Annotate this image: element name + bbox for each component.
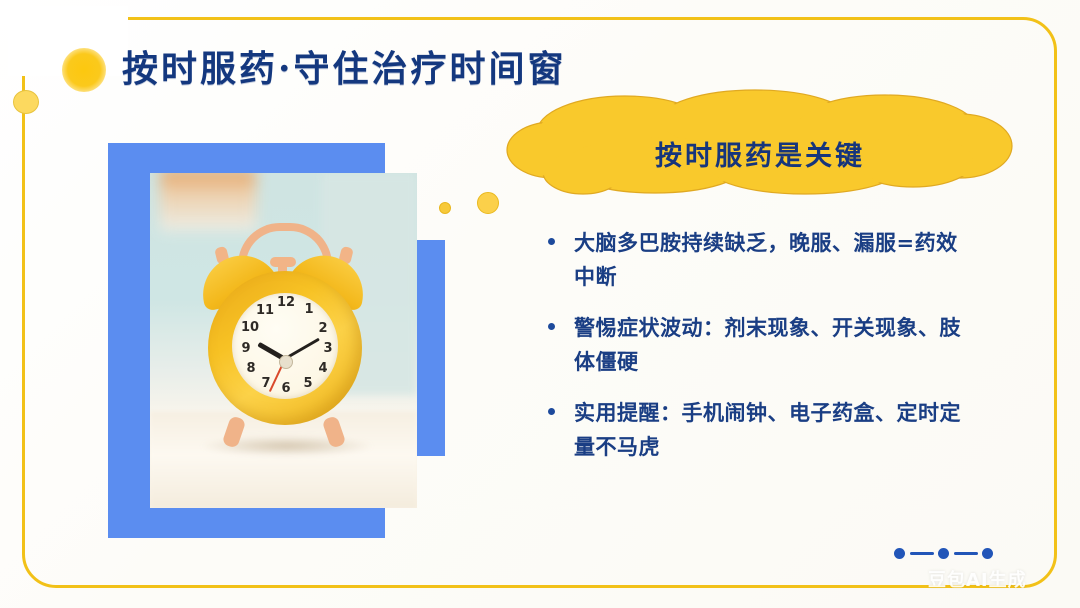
sun-icon	[62, 48, 106, 92]
clock-number: 12	[277, 295, 293, 311]
clock-number: 3	[320, 341, 336, 357]
deco-dot	[894, 548, 905, 559]
clock-number: 2	[315, 321, 331, 337]
clock-number: 9	[238, 341, 254, 357]
decorative-dot-large	[477, 192, 499, 214]
deco-dash	[910, 552, 934, 555]
clock-number: 1	[301, 302, 317, 318]
bullet-text: 实用提醒：手机闹钟、电子药盒、定时定量不马虎	[574, 396, 968, 464]
deco-dash	[954, 552, 978, 555]
clock-foot-right	[322, 415, 347, 449]
page-title: 按时服药·守住治疗时间窗	[122, 40, 567, 92]
bullet-list: 大脑多巴胺持续缺乏，晚服、漏服=药效中断 警惕症状波动：剂末现象、开关现象、肢体…	[548, 226, 968, 481]
clock-foot-left	[222, 415, 247, 449]
cloud-pebble-icon	[13, 90, 39, 114]
clock-number: 8	[243, 361, 259, 377]
clock-photo-composition: 12 1 2 3 4 5 6 7 8 9 10 11	[100, 138, 460, 538]
bullet-text: 警惕症状波动：剂末现象、开关现象、肢体僵硬	[574, 311, 968, 379]
watermark-label: 豆包AI生成	[928, 566, 1027, 592]
clock-number: 11	[256, 303, 272, 319]
alarm-clock-icon: 12 1 2 3 4 5 6 7 8 9 10 11	[202, 223, 367, 463]
list-item: 警惕症状波动：剂末现象、开关现象、肢体僵硬	[548, 311, 968, 379]
bullet-dot-icon	[548, 238, 555, 245]
bullet-dot-icon	[548, 408, 555, 415]
bullet-dot-icon	[548, 323, 555, 330]
dot-dash-decoration	[894, 548, 982, 560]
clock-case: 12 1 2 3 4 5 6 7 8 9 10 11	[208, 271, 362, 425]
cloud-banner: 按时服药是关键	[505, 88, 1015, 196]
deco-dot	[982, 548, 993, 559]
list-item: 大脑多巴胺持续缺乏，晚服、漏服=药效中断	[548, 226, 968, 294]
list-item: 实用提醒：手机闹钟、电子药盒、定时定量不马虎	[548, 396, 968, 464]
clock-dial: 12 1 2 3 4 5 6 7 8 9 10 11	[232, 293, 338, 399]
clock-number: 6	[278, 381, 294, 397]
bullet-text: 大脑多巴胺持续缺乏，晚服、漏服=药效中断	[574, 226, 968, 294]
clock-number: 5	[300, 376, 316, 392]
clock-number: 4	[315, 361, 331, 377]
alarm-clock-photo: 12 1 2 3 4 5 6 7 8 9 10 11	[150, 173, 417, 508]
deco-dot	[938, 548, 949, 559]
clock-number: 10	[241, 320, 257, 336]
banner-title: 按时服药是关键	[505, 88, 1015, 196]
clock-center-pin	[279, 355, 293, 369]
decorative-dot-small	[439, 202, 451, 214]
slide-canvas: 按时服药·守住治疗时间窗 12	[0, 0, 1080, 608]
